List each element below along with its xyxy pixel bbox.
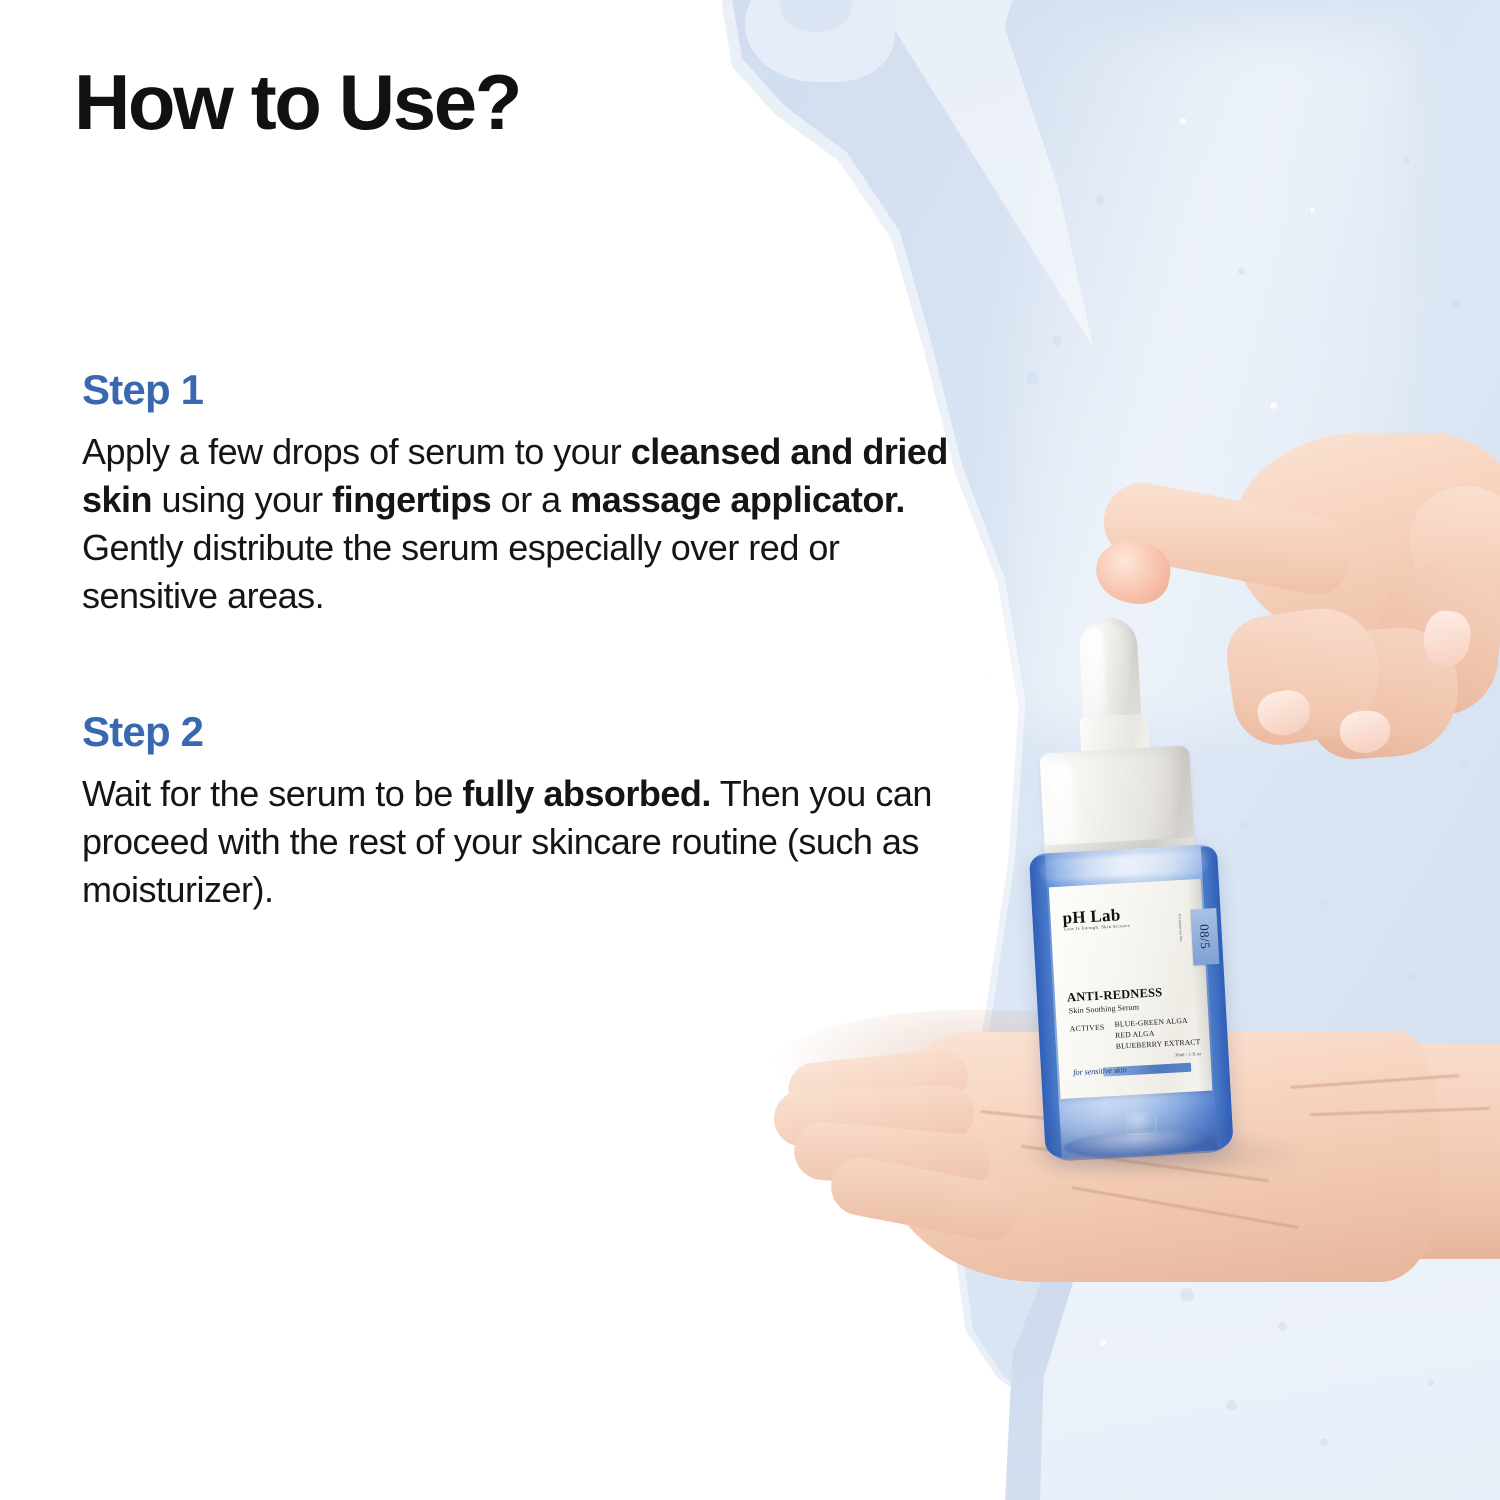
step-2-block: Step 2 Wait for the serum to be fully ab…: [82, 708, 962, 914]
gel-bubble: [1180, 118, 1186, 124]
gel-bubble: [1052, 336, 1062, 346]
step-1-body: Apply a few drops of serum to your clean…: [82, 428, 962, 620]
gel-bubble: [1226, 1400, 1237, 1411]
step-2-body: Wait for the serum to be fully absorbed.…: [82, 770, 962, 914]
gel-bubble: [1452, 300, 1460, 308]
script-tagline-wrap: for sensitive skin: [1073, 1061, 1192, 1082]
gel-bubble: [1320, 1438, 1328, 1446]
gel-bubble: [1026, 372, 1039, 385]
gel-bubble: [1428, 1380, 1434, 1386]
dropper-collar-highlight: [1050, 762, 1077, 847]
gel-bubble: [1096, 196, 1104, 204]
gel-bubble: [1270, 402, 1277, 409]
product-name: ANTI-REDNESS: [1067, 985, 1163, 1005]
formulation-tab: 08/5: [1190, 908, 1219, 965]
serum-bottle[interactable]: pH Lab Less Is Enough. Skin Science Form…: [982, 609, 1292, 1164]
gel-bubble: [1320, 900, 1326, 906]
gel-bubble: [1408, 972, 1418, 982]
actives-heading: ACTIVES: [1070, 1022, 1105, 1033]
formulation-number: 08/5: [1196, 924, 1213, 950]
page-title: How to Use?: [74, 62, 520, 144]
gel-bubble: [1100, 1340, 1106, 1346]
product-label: pH Lab Less Is Enough. Skin Science Form…: [1049, 879, 1213, 1099]
gel-bubble: [1310, 208, 1315, 213]
tab-side-text: Formulation No.: [1178, 914, 1184, 943]
step-2-label: Step 2: [82, 708, 962, 756]
gel-bubble: [1238, 268, 1245, 275]
step-1-label: Step 1: [82, 366, 962, 414]
actives-list: BLUE-GREEN ALGARED ALGABLUEBERRY EXTRACT: [1114, 1015, 1200, 1052]
gel-bubble: [1404, 158, 1410, 164]
step-1-block: Step 1 Apply a few drops of serum to you…: [82, 366, 962, 620]
bottle-emboss-mark: [1126, 1112, 1157, 1136]
